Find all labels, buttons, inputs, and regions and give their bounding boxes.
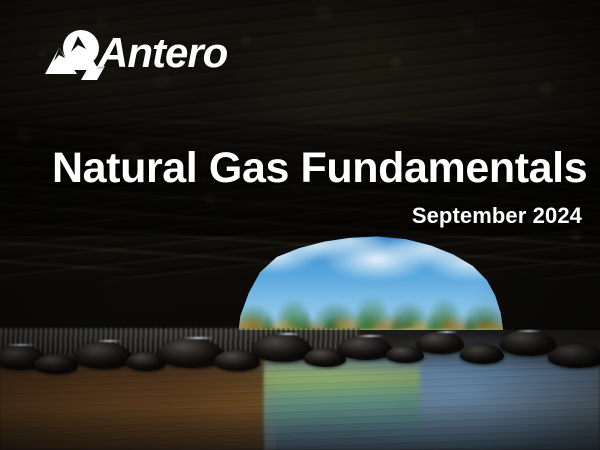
river-boulders [0,328,600,394]
presentation-date: September 2024 [412,203,582,229]
antero-logo[interactable]: Antero [45,26,227,80]
rock-strata-lower [0,117,600,270]
antero-wordmark: Antero [98,32,227,74]
page-title: Natural Gas Fundamentals [52,146,587,191]
title-slide: Antero Natural Gas Fundamentals Septembe… [0,0,600,450]
